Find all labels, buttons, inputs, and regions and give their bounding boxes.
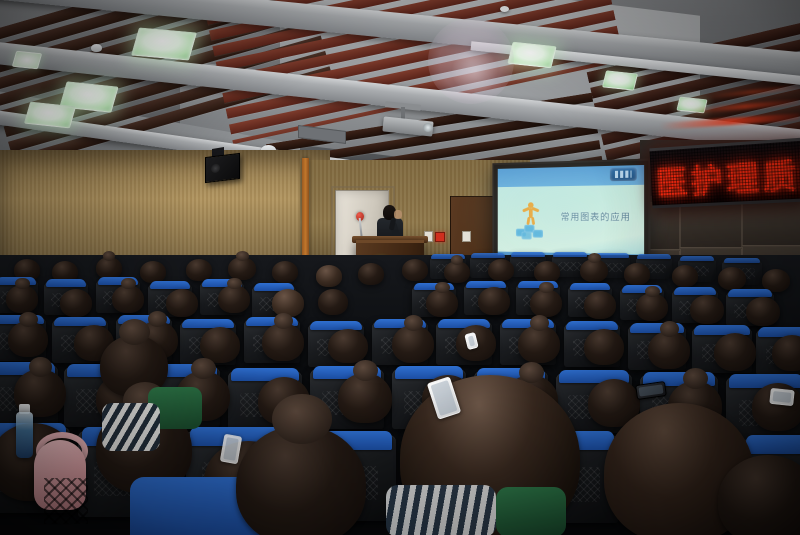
audience-head bbox=[580, 259, 608, 282]
audience-head bbox=[714, 333, 756, 371]
audience-head bbox=[96, 257, 122, 279]
audience-head bbox=[262, 323, 304, 361]
audience-head bbox=[534, 261, 560, 283]
slide-puzzle-pieces-icon bbox=[515, 225, 543, 239]
audience-head bbox=[530, 289, 562, 317]
audience-head bbox=[746, 297, 780, 326]
audience-head bbox=[718, 267, 746, 290]
ceiling-spotlight bbox=[500, 6, 509, 12]
projector-arm bbox=[401, 107, 405, 119]
audience-head bbox=[488, 259, 514, 281]
audience-head bbox=[584, 291, 616, 319]
ceiling-panel-light bbox=[12, 51, 43, 70]
audience-head bbox=[636, 293, 668, 321]
audience-head bbox=[316, 265, 342, 287]
audience-head bbox=[166, 289, 198, 317]
ceiling-panel-light bbox=[24, 102, 76, 129]
audience-head bbox=[8, 321, 48, 357]
light-switch[interactable] bbox=[462, 231, 471, 242]
water-bottle bbox=[16, 412, 33, 458]
audience-head bbox=[272, 261, 298, 283]
audience-head bbox=[358, 263, 384, 285]
audience-head bbox=[478, 287, 510, 315]
audience-head bbox=[112, 285, 144, 313]
projector-lens-icon bbox=[423, 123, 433, 132]
ceiling-panel-light bbox=[131, 27, 197, 60]
ceiling-panel-light bbox=[676, 97, 707, 114]
seat-mesh-pocket bbox=[44, 478, 88, 524]
audience-head bbox=[444, 261, 470, 283]
audience-head bbox=[672, 265, 698, 287]
audience-head bbox=[328, 329, 368, 363]
audience-head bbox=[318, 289, 348, 315]
audience-head bbox=[186, 259, 212, 281]
audience-head bbox=[392, 325, 434, 363]
slide-person-figure-icon bbox=[521, 202, 540, 228]
led-pixel-grid bbox=[650, 140, 800, 205]
audience-head bbox=[584, 329, 624, 365]
audience-head-foreground bbox=[236, 425, 366, 535]
ceiling-panel-light bbox=[602, 70, 638, 90]
led-scrolling-sign: 医护理质量 bbox=[649, 137, 800, 208]
auditorium-photo: 常用图表的应用 医护理质量 bbox=[0, 0, 800, 535]
audience-head bbox=[518, 325, 560, 363]
ceiling-projector bbox=[383, 113, 433, 137]
slide-title: 常用图表的应用 bbox=[561, 209, 631, 222]
audience-head bbox=[624, 263, 650, 285]
audience-clothing bbox=[496, 487, 566, 535]
ceiling-panel-light bbox=[507, 42, 556, 69]
audience-head bbox=[338, 373, 392, 423]
audience-head bbox=[218, 285, 250, 313]
audience-clothing bbox=[102, 403, 160, 451]
fire-alarm-icon[interactable] bbox=[435, 232, 445, 242]
audience-head bbox=[272, 289, 304, 317]
audience-clothing bbox=[386, 485, 496, 535]
slide-logo-icon bbox=[610, 167, 637, 181]
screen-surface: 常用图表的应用 bbox=[498, 165, 644, 266]
audience-head bbox=[140, 261, 166, 283]
audience-head bbox=[772, 335, 800, 371]
audience-head bbox=[228, 257, 256, 280]
wall-speaker bbox=[205, 153, 240, 183]
audience-head bbox=[690, 295, 724, 324]
audience-head bbox=[60, 289, 92, 317]
audience-head bbox=[648, 331, 690, 369]
audience-head bbox=[6, 285, 38, 313]
smoke-detector-icon bbox=[91, 44, 102, 52]
presentation-slide: 常用图表的应用 bbox=[498, 165, 644, 266]
wall-trim-strip bbox=[302, 158, 309, 270]
auditorium-hall bbox=[0, 255, 800, 535]
audience-head bbox=[426, 289, 458, 317]
audience-head bbox=[402, 259, 428, 281]
smartphone[interactable] bbox=[769, 388, 795, 406]
